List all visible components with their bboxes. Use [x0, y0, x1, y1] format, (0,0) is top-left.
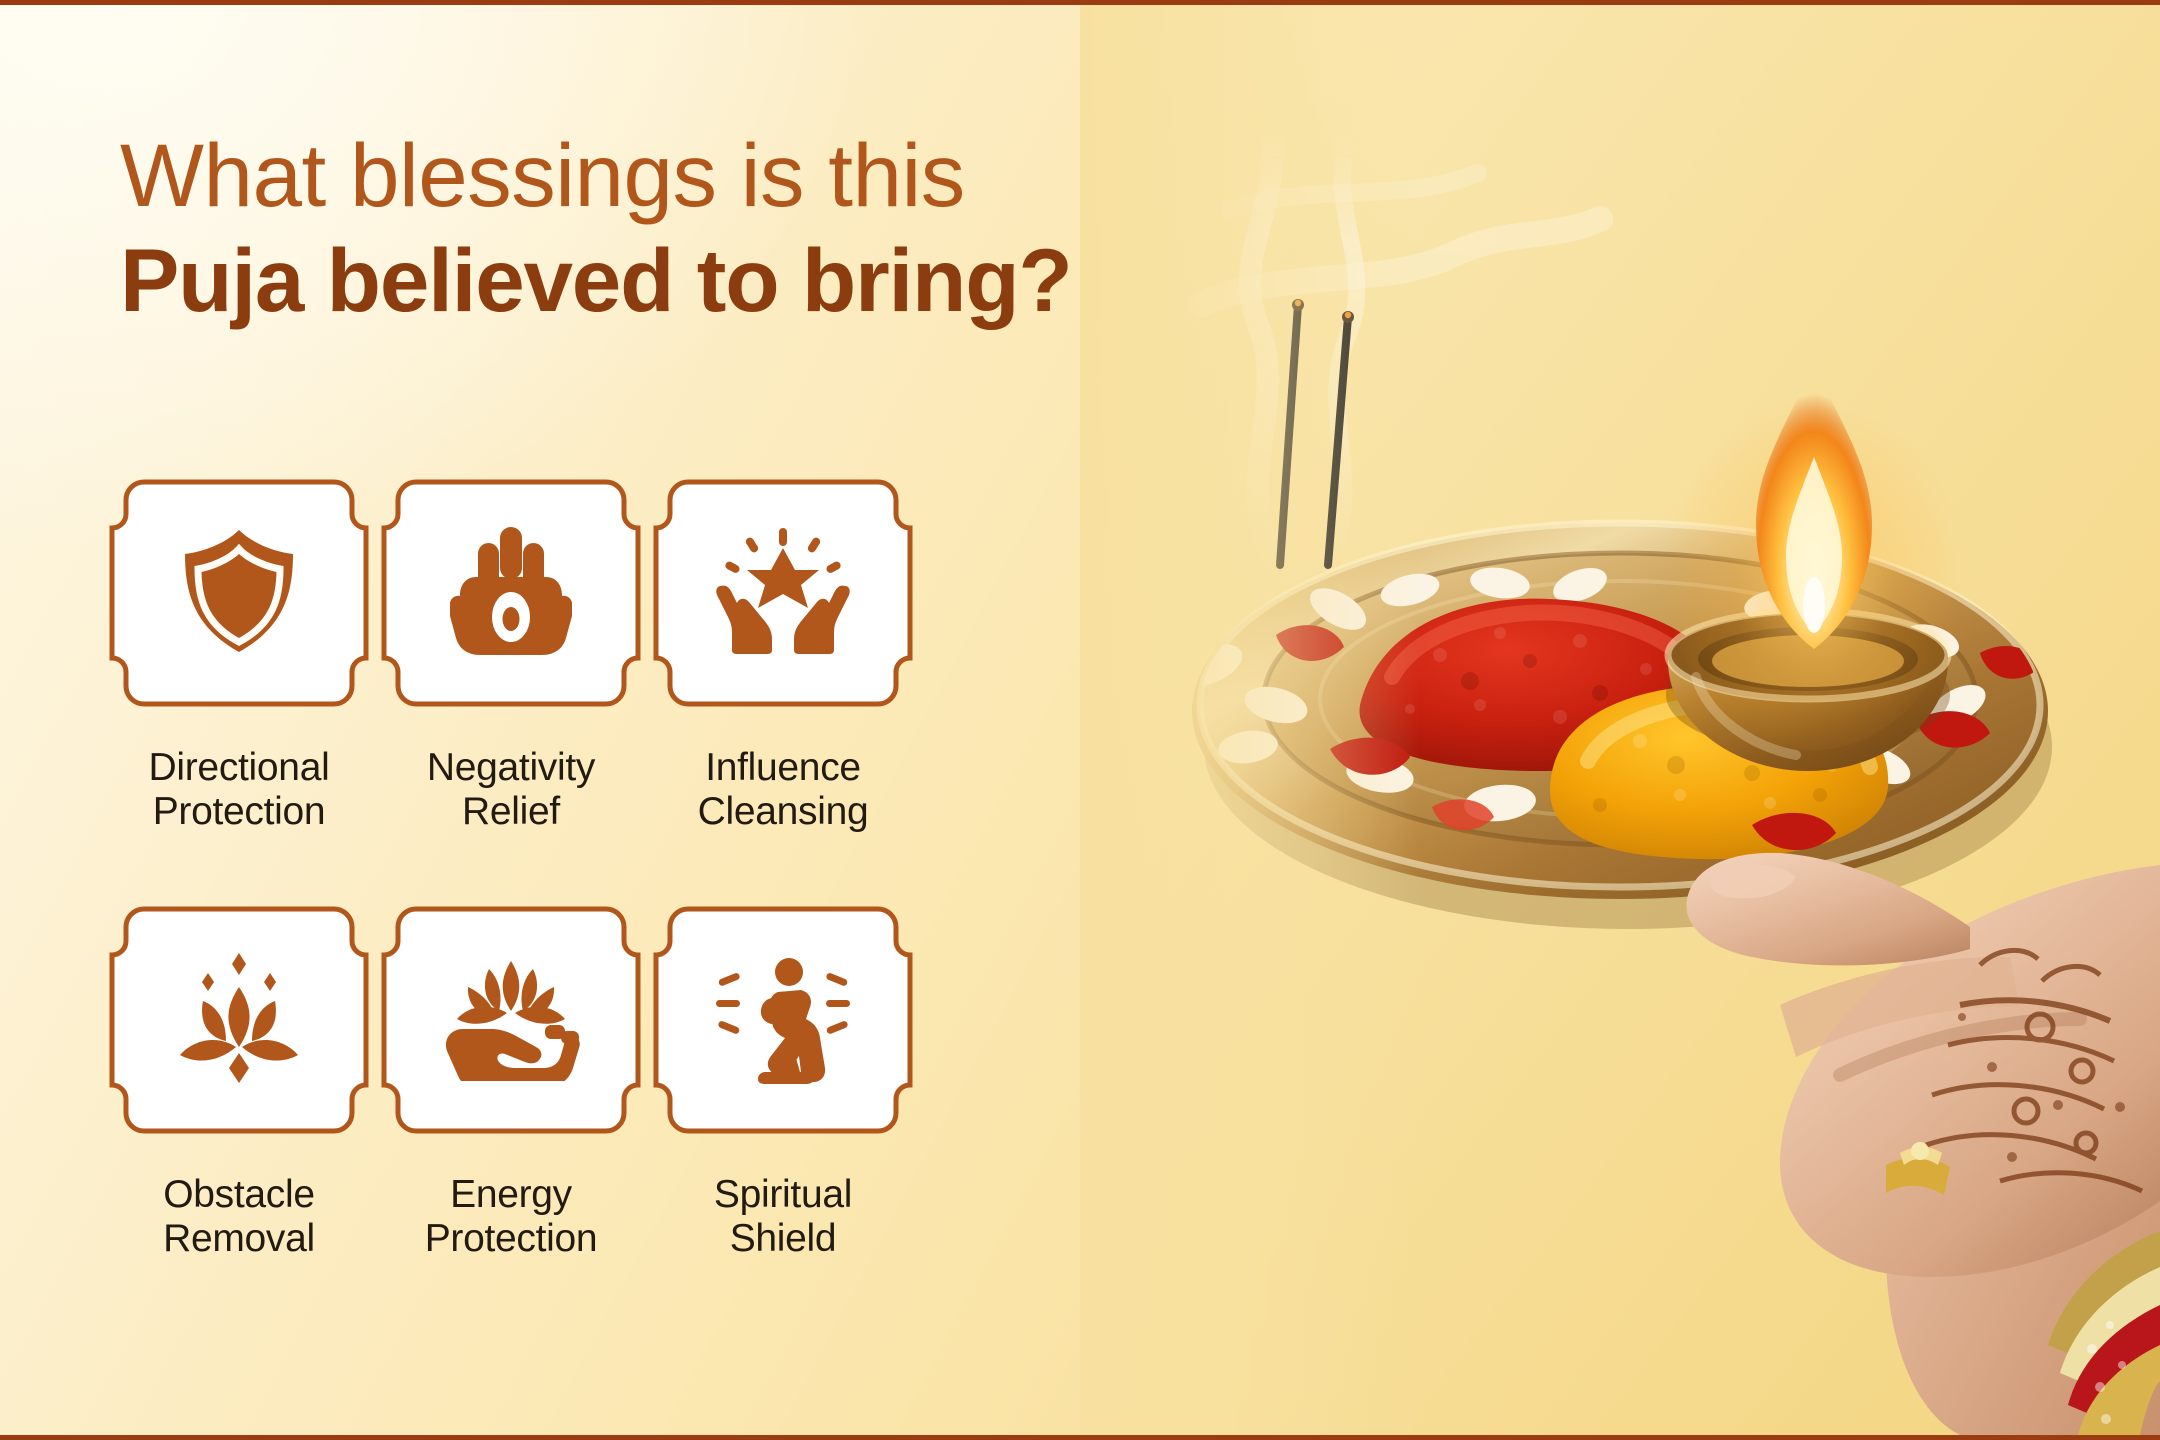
hands-star-icon	[652, 462, 914, 720]
blessing-label: Obstacle Removal	[108, 1173, 370, 1261]
blessing-label: Energy Protection	[380, 1173, 642, 1261]
blessing-label-line-2: Shield	[652, 1217, 914, 1261]
blessing-label-line-1: Energy	[450, 1173, 572, 1216]
icon-card	[380, 462, 642, 720]
headline-line-2: Puja believed to bring?	[120, 231, 1072, 331]
blessing-label-line-2: Cleansing	[652, 790, 914, 834]
blessing-label-line-1: Obstacle	[163, 1173, 315, 1216]
lotus-sparkle-icon	[108, 889, 370, 1147]
blessing-label-line-1: Influence	[705, 746, 861, 789]
blessing-item-energy-protection: Energy Protection	[380, 889, 642, 1261]
blessing-label-line-1: Spiritual	[714, 1173, 852, 1216]
icon-card	[108, 889, 370, 1147]
blessing-label-line-2: Protection	[380, 1217, 642, 1261]
blessing-label: Negativity Relief	[380, 746, 642, 834]
blessing-label-line-1: Directional	[149, 746, 330, 789]
blessing-item-influence-cleansing: Influence Cleansing	[652, 462, 914, 834]
blessing-item-negativity-relief: Negativity Relief	[380, 462, 642, 834]
hand-lotus-icon	[380, 889, 642, 1147]
photo-left-fade	[1080, 5, 1420, 1435]
radiant-person-icon	[652, 889, 914, 1147]
icon-card	[380, 889, 642, 1147]
blessing-item-directional-protection: Directional Protection	[108, 462, 370, 834]
headline-line-1: What blessings is this	[120, 130, 1072, 221]
poster-canvas: What blessings is this Puja believed to …	[0, 0, 2160, 1440]
blessing-label-line-2: Removal	[108, 1217, 370, 1261]
headline: What blessings is this Puja believed to …	[120, 130, 1072, 330]
blessing-label-line-2: Protection	[108, 790, 370, 834]
blessing-label: Directional Protection	[108, 746, 370, 834]
blessing-label: Spiritual Shield	[652, 1173, 914, 1261]
blessing-item-spiritual-shield: Spiritual Shield	[652, 889, 914, 1261]
blessing-label: Influence Cleansing	[652, 746, 914, 834]
bottom-rule	[0, 1435, 2160, 1440]
icon-card	[652, 889, 914, 1147]
blessing-label-line-1: Negativity	[427, 746, 595, 789]
blessing-item-obstacle-removal: Obstacle Removal	[108, 889, 370, 1261]
icon-card	[108, 462, 370, 720]
hamsa-hand-icon	[380, 462, 642, 720]
blessings-grid: Directional Protection	[108, 462, 1108, 1261]
blessing-label-line-2: Relief	[380, 790, 642, 834]
puja-thali-photo	[1080, 5, 2160, 1435]
icon-card	[652, 462, 914, 720]
shield-icon	[108, 462, 370, 720]
